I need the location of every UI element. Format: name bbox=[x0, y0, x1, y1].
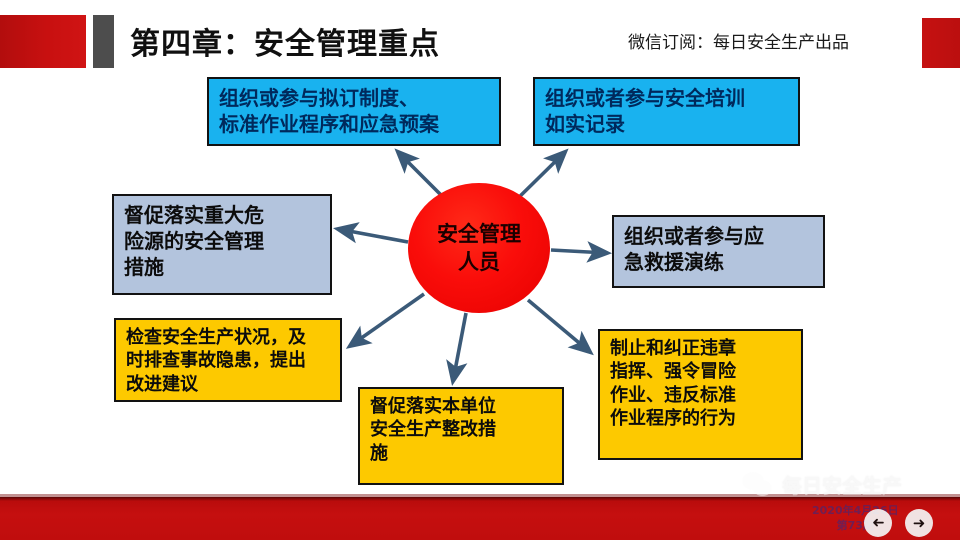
node-inspect-line-2: 时排查事故隐患，提出 bbox=[126, 349, 332, 372]
node-inspection[interactable]: 检查安全生产状况，及 时排查事故隐患，提出 改进建议 bbox=[114, 318, 342, 402]
node-drill-line-1: 组织或者参与应 bbox=[624, 223, 815, 249]
arrow-left-icon[interactable]: ➜ bbox=[864, 509, 892, 537]
node-violation-line-2: 指挥、强令冒险 bbox=[610, 360, 793, 383]
node-policy-line-2: 标准作业程序和应急预案 bbox=[219, 111, 491, 137]
node-emergency-drill[interactable]: 组织或者参与应 急救援演练 bbox=[612, 215, 825, 288]
page-title: 第四章：安全管理重点 bbox=[130, 16, 440, 66]
node-training[interactable]: 组织或者参与安全培训 如实记录 bbox=[533, 77, 800, 146]
node-hazard-control[interactable]: 督促落实重大危 险源的安全管理 措施 bbox=[112, 194, 332, 295]
node-rectify-line-3: 施 bbox=[370, 442, 554, 465]
node-rectify-line-1: 督促落实本单位 bbox=[370, 395, 554, 418]
node-inspect-line-1: 检查安全生产状况，及 bbox=[126, 326, 332, 349]
node-inspect-line-3: 改进建议 bbox=[126, 373, 332, 396]
arrow-right-icon[interactable]: ➜ bbox=[905, 509, 933, 537]
center-node-line-2: 人员 bbox=[458, 248, 500, 276]
node-hazard-line-3: 措施 bbox=[124, 254, 322, 280]
center-node-safety-manager[interactable]: 安全管理 人员 bbox=[408, 183, 550, 313]
node-rectification[interactable]: 督促落实本单位 安全生产整改措 施 bbox=[358, 387, 564, 485]
header-gray-bar bbox=[93, 15, 114, 68]
node-violation-line-1: 制止和纠正违章 bbox=[610, 337, 793, 360]
watermark: 每日安全生产 bbox=[742, 470, 902, 499]
node-training-line-2: 如实记录 bbox=[545, 111, 790, 137]
nav-prev-glyph: ➜ bbox=[872, 514, 885, 532]
center-node-line-1: 安全管理 bbox=[437, 220, 521, 248]
node-policy[interactable]: 组织或参与拟订制度、 标准作业程序和应急预案 bbox=[207, 77, 501, 146]
node-rectify-line-2: 安全生产整改措 bbox=[370, 418, 554, 441]
node-policy-line-1: 组织或参与拟订制度、 bbox=[219, 85, 491, 111]
node-hazard-line-2: 险源的安全管理 bbox=[124, 228, 322, 254]
node-violation-line-4: 作业程序的行为 bbox=[610, 407, 793, 430]
header-red-block-right bbox=[922, 18, 960, 68]
wechat-icon bbox=[742, 471, 776, 499]
node-hazard-line-1: 督促落实重大危 bbox=[124, 202, 322, 228]
watermark-brand: 每日安全生产 bbox=[782, 470, 902, 499]
node-training-line-1: 组织或者参与安全培训 bbox=[545, 85, 790, 111]
node-violation-line-3: 作业、违反标准 bbox=[610, 384, 793, 407]
subscription-note: 微信订阅：每日安全生产出品 bbox=[628, 28, 849, 53]
node-drill-line-2: 急救援演练 bbox=[624, 249, 815, 275]
node-violation-control[interactable]: 制止和纠正违章 指挥、强令冒险 作业、违反标准 作业程序的行为 bbox=[598, 329, 803, 460]
slide-canvas: 第四章：安全管理重点 微信订阅：每日安全生产出品 安全管理 bbox=[0, 0, 960, 540]
nav-next-glyph: ➜ bbox=[913, 514, 926, 532]
header-red-block-left bbox=[0, 15, 86, 68]
